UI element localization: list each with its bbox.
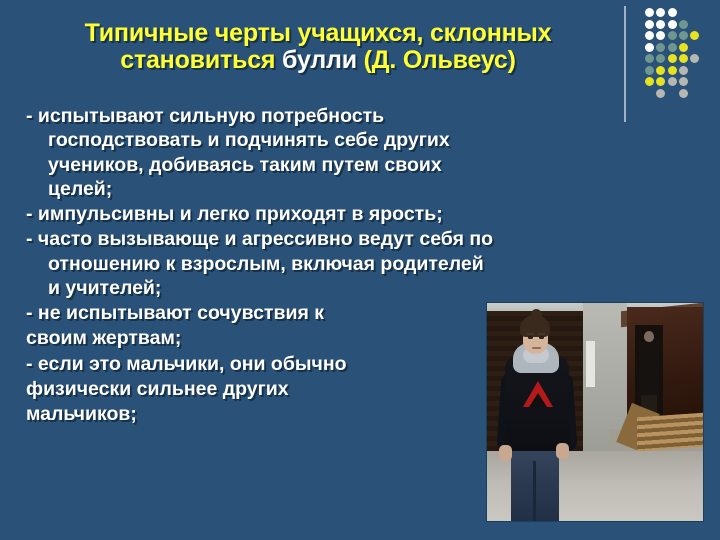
photo-background-person-body <box>639 341 659 397</box>
photo-boy-eyebrow-left <box>527 333 534 335</box>
decorative-dot <box>668 20 677 29</box>
decorative-dot <box>679 31 688 40</box>
decorative-dot <box>656 66 665 75</box>
bullet-item: - испытывают сильную потребность господс… <box>26 104 496 201</box>
title-line-1: Типичные черты учащихся, склонных <box>28 20 608 47</box>
decorative-dot <box>690 31 699 40</box>
slide: Типичные черты учащихся, склонных станов… <box>0 0 720 540</box>
photo-drainpipe <box>586 341 595 387</box>
decorative-dot <box>690 54 699 63</box>
bullet-item: - импульсивны и легко приходят в ярость; <box>26 202 496 226</box>
decorative-dot <box>645 43 654 52</box>
photo-teenage-boy <box>487 303 703 521</box>
decorative-dot <box>656 20 665 29</box>
photo-boy-eye-left <box>528 336 533 339</box>
decorative-dot <box>668 8 677 17</box>
decorative-dot <box>679 89 688 98</box>
decorative-dot <box>645 54 654 63</box>
title-line-2-part-3-author: (Д. Ольвеус) <box>357 46 516 74</box>
photo-boy-mouth <box>532 347 541 349</box>
decorative-dot <box>679 66 688 75</box>
decorative-dot <box>645 31 654 40</box>
bullet-item: - если это мальчики, они обычно <box>26 352 496 376</box>
photo-boy-eyebrow-right <box>538 333 545 335</box>
bullet-item-continuation: физически сильнее других <box>26 377 496 401</box>
bullet-item: - не испытывают сочувствия к <box>26 301 496 325</box>
decorative-dot <box>668 77 677 86</box>
title-line-1-text: Типичные черты учащихся, склонных <box>85 19 552 47</box>
decorative-dot <box>645 20 654 29</box>
decorative-dot-grid <box>645 8 715 116</box>
page-title: Типичные черты учащихся, склонных станов… <box>28 20 608 74</box>
decorative-dot <box>668 54 677 63</box>
photo-boy-left-hand <box>499 445 512 461</box>
decorative-dot <box>679 43 688 52</box>
decorative-dot <box>645 77 654 86</box>
photo-wooden-pallets <box>637 413 703 452</box>
decorative-dot <box>645 66 654 75</box>
title-line-2-part-2-highlight: булли <box>282 46 357 74</box>
decorative-dot <box>645 8 654 17</box>
decorative-dot <box>656 31 665 40</box>
vertical-divider <box>624 6 626 122</box>
bullet-item: - часто вызывающе и агрессивно ведут себ… <box>26 227 496 300</box>
title-line-2-part-1: становиться <box>120 46 282 74</box>
decorative-dot <box>656 8 665 17</box>
decorative-dot <box>656 54 665 63</box>
bullet-list: - испытывают сильную потребность господс… <box>26 104 496 427</box>
decorative-dot <box>679 77 688 86</box>
decorative-dot <box>668 66 677 75</box>
title-line-2: становиться булли (Д. Ольвеус) <box>28 47 608 74</box>
decorative-dot <box>679 20 688 29</box>
decorative-dot <box>668 31 677 40</box>
decorative-dot <box>668 43 677 52</box>
decorative-dot <box>656 89 665 98</box>
decorative-dot <box>656 77 665 86</box>
bullet-item-continuation: своим жертвам; <box>26 326 496 350</box>
decorative-dot <box>679 54 688 63</box>
photo-boy-eye-right <box>539 336 544 339</box>
photo-boy-hoodie-logo-inner <box>529 393 547 407</box>
bullet-item-continuation: мальчиков; <box>26 402 496 426</box>
decorative-dot <box>656 43 665 52</box>
photo-boy-jeans-seam <box>533 461 536 521</box>
photo-boy-right-hand <box>556 443 569 459</box>
photo-background-person-head <box>644 331 654 342</box>
